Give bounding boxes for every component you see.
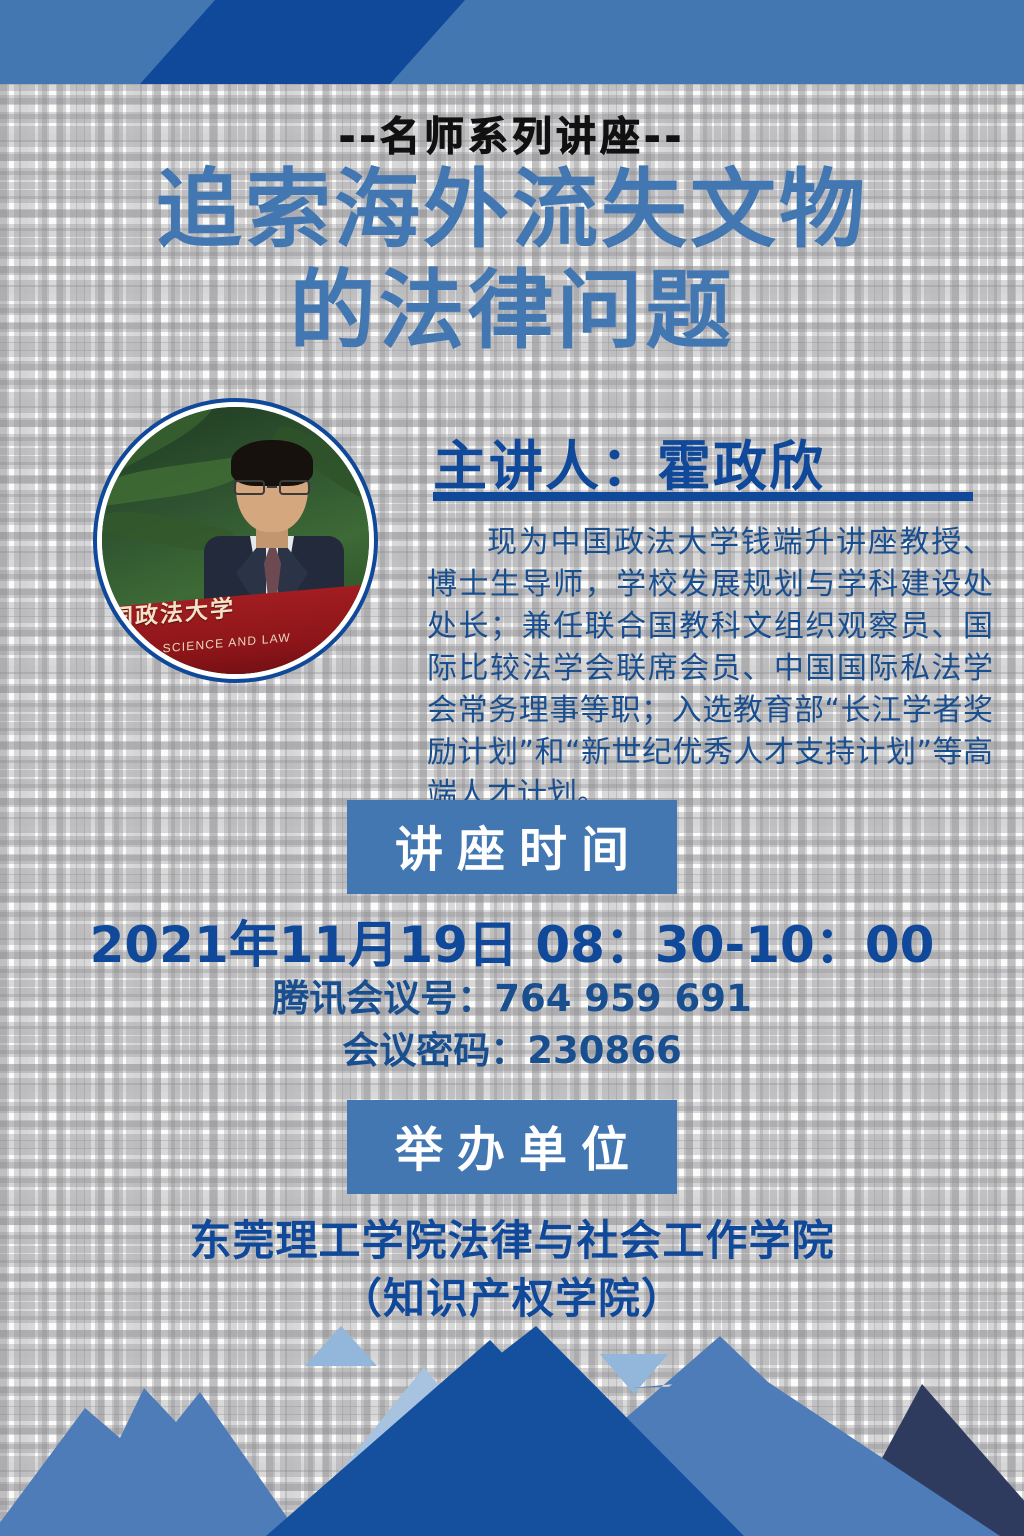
mountain-mid-left: [0, 1388, 300, 1536]
speaker-divider: [433, 492, 973, 501]
speaker-name-heading: 主讲人：霍政欣: [433, 422, 993, 501]
section-banner-time: 讲座时间: [347, 800, 677, 894]
speaker-photo: 国政法大学 ITICAL SCIENCE AND LAW: [102, 407, 369, 674]
glasses-lens-left: [234, 480, 265, 495]
poster-content: --名师系列讲座-- 追索海外流失文物 的法律问题: [0, 0, 1024, 1536]
speaker-photo-frame: 国政法大学 ITICAL SCIENCE AND LAW: [93, 398, 378, 683]
glasses-bridge: [267, 486, 277, 488]
lecture-date-time: 2021年11月19日 08：30-10：00: [0, 905, 1024, 977]
meeting-password: 会议密码：230866: [0, 1020, 1024, 1074]
mountain-light-triangle-small: [305, 1326, 377, 1366]
page-title: 追索海外流失文物 的法律问题: [0, 160, 1024, 363]
series-kicker: --名师系列讲座--: [0, 104, 1024, 162]
speaker-biography: 现为中国政法大学钱端升讲座教授、博士生导师，学校发展规划与学科建设处处长；兼任联…: [427, 522, 993, 816]
meeting-id: 腾讯会议号：764 959 691: [0, 968, 1024, 1022]
page-title-line-2: 的法律问题: [0, 261, 1024, 362]
glasses-lens-right: [279, 480, 310, 495]
mountain-range-decoration: [0, 1326, 1024, 1536]
page-title-line-1: 追索海外流失文物: [0, 160, 1024, 261]
organizer-line-1: 东莞理工学院法律与社会工作学院: [0, 1207, 1024, 1268]
organizer-line-2: （知识产权学院）: [0, 1265, 1024, 1326]
section-banner-organizer: 举办单位: [347, 1100, 677, 1194]
glasses-icon: [232, 480, 312, 495]
mountain-light-triangle-inverted: [600, 1354, 668, 1394]
